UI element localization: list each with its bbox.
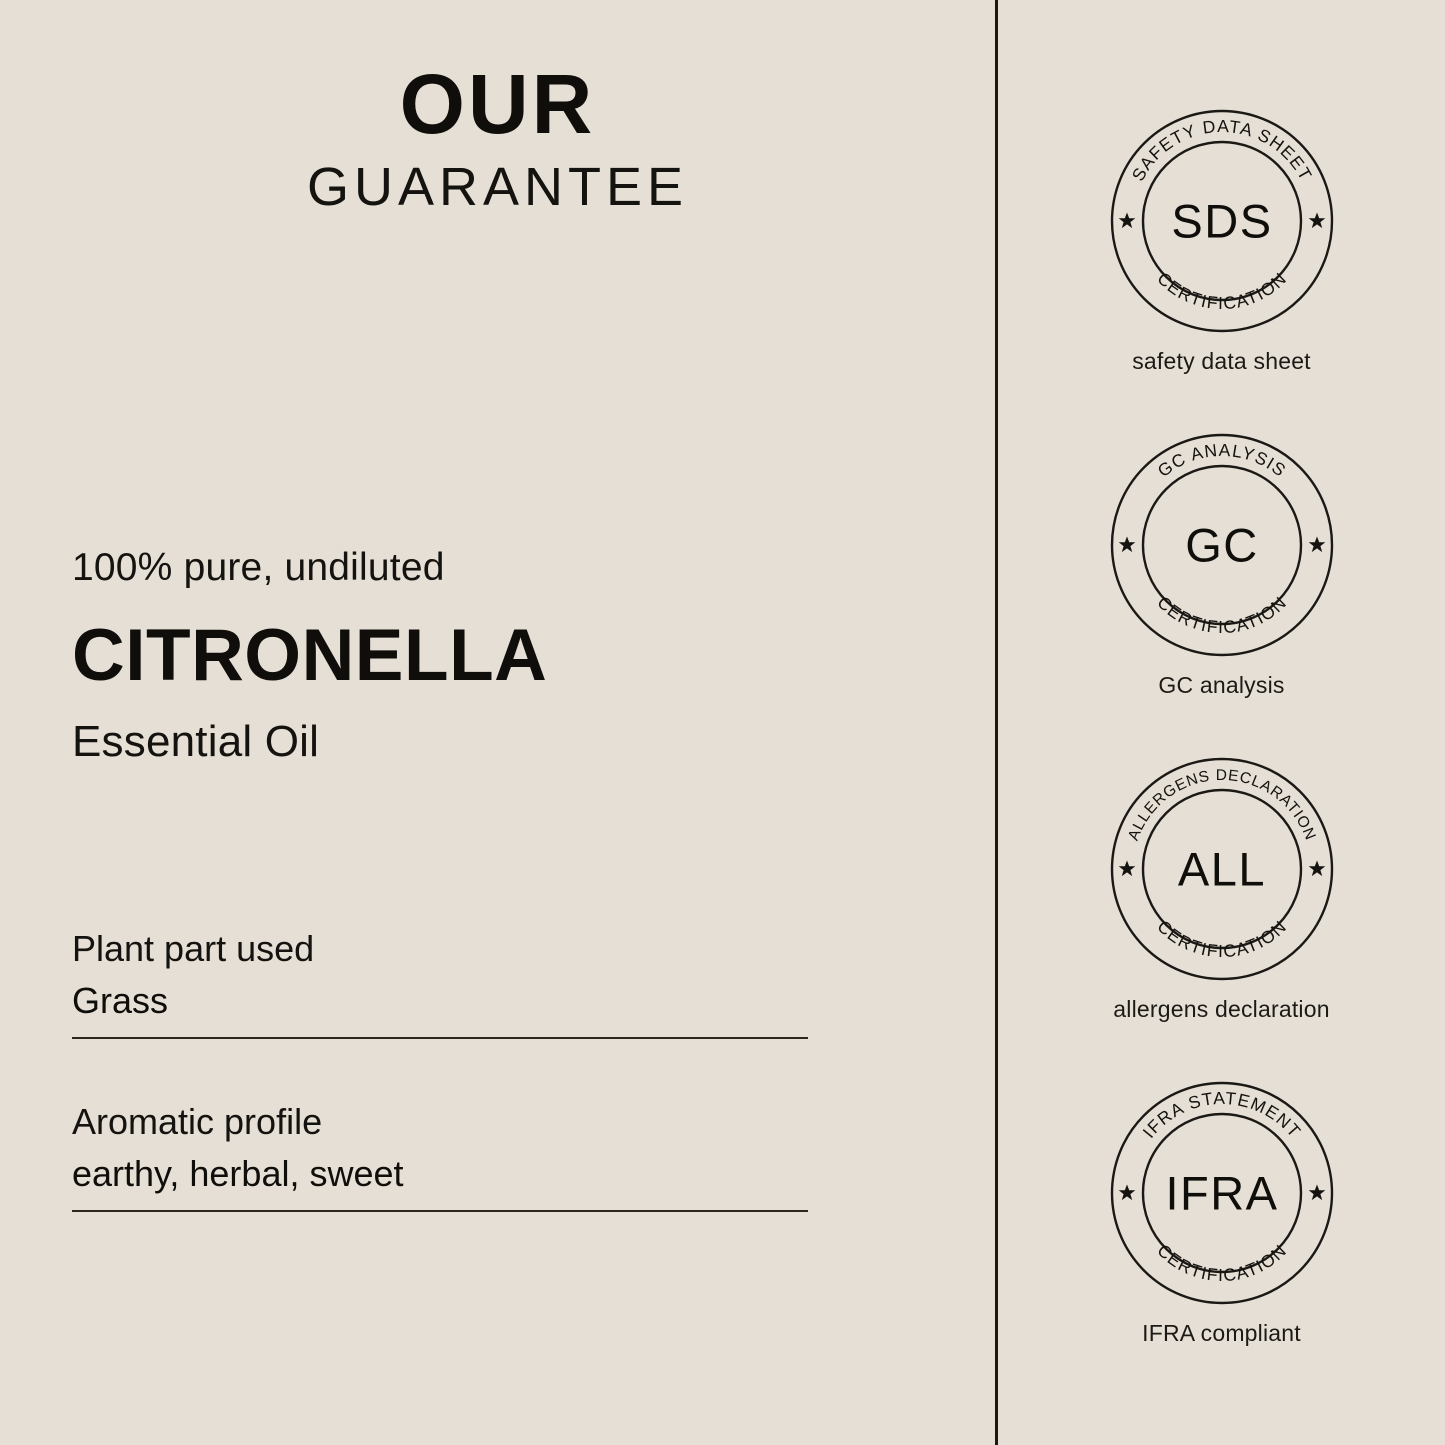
svg-text:CERTIFICATION: CERTIFICATION	[1153, 916, 1290, 961]
seal-arc-bottom: CERTIFICATION	[1153, 916, 1290, 961]
svg-text:CERTIFICATION: CERTIFICATION	[1153, 1240, 1290, 1285]
page-title-line-1: OUR	[0, 62, 995, 146]
page-title: OUR GUARANTEE	[0, 62, 995, 214]
star-icon	[1308, 1185, 1325, 1201]
seal-badge-icon: IFRA STATEMENT CERTIFICATION IFRA	[1109, 1080, 1335, 1306]
page-title-line-2: GUARANTEE	[0, 160, 995, 214]
star-icon	[1118, 861, 1135, 877]
spec-row: Plant part used Grass	[72, 928, 808, 1039]
certification-badge: SAFETY DATA SHEET CERTIFICATION SDS safe…	[998, 108, 1445, 376]
star-icon	[1308, 213, 1325, 229]
certification-badges-column: SAFETY DATA SHEET CERTIFICATION SDS safe…	[998, 0, 1445, 1445]
seal-arc-top: ALLERGENS DECLARATION	[1125, 767, 1319, 843]
seal-badge-icon: ALLERGENS DECLARATION CERTIFICATION ALL	[1109, 756, 1335, 982]
seal-arc-bottom: CERTIFICATION	[1153, 268, 1290, 313]
spec-value: earthy, herbal, sweet	[72, 1153, 808, 1195]
certification-badge: IFRA STATEMENT CERTIFICATION IFRA IFRA c…	[998, 1080, 1445, 1348]
seal-acronym: GC	[1185, 519, 1259, 572]
product-block: 100% pure, undiluted CITRONELLA Essentia…	[72, 548, 892, 764]
seal-acronym: SDS	[1171, 195, 1272, 248]
left-content-column: OUR GUARANTEE 100% pure, undiluted CITRO…	[0, 0, 995, 1445]
spec-label: Aromatic profile	[72, 1101, 808, 1143]
certification-badge: GC ANALYSIS CERTIFICATION GC GC analysis	[998, 432, 1445, 700]
spec-row: Aromatic profile earthy, herbal, sweet	[72, 1101, 808, 1212]
spec-label: Plant part used	[72, 928, 808, 970]
badge-caption: IFRA compliant	[998, 1320, 1445, 1348]
star-icon	[1308, 861, 1325, 877]
svg-text:SAFETY DATA SHEET: SAFETY DATA SHEET	[1127, 116, 1316, 184]
product-purity-text: 100% pure, undiluted	[72, 548, 892, 587]
svg-text:CERTIFICATION: CERTIFICATION	[1153, 268, 1290, 313]
seal-badge-icon: SAFETY DATA SHEET CERTIFICATION SDS	[1109, 108, 1335, 334]
seal-arc-top: SAFETY DATA SHEET	[1127, 116, 1316, 184]
guarantee-page: OUR GUARANTEE 100% pure, undiluted CITRO…	[0, 0, 1445, 1445]
seal-arc-bottom: CERTIFICATION	[1153, 592, 1290, 637]
badge-caption: safety data sheet	[998, 348, 1445, 376]
svg-text:ALLERGENS DECLARATION: ALLERGENS DECLARATION	[1125, 767, 1319, 843]
svg-text:CERTIFICATION: CERTIFICATION	[1153, 592, 1290, 637]
spec-value: Grass	[72, 980, 808, 1022]
seal-badge-icon: GC ANALYSIS CERTIFICATION GC	[1109, 432, 1335, 658]
product-name: CITRONELLA	[72, 619, 892, 692]
spec-list: Plant part used Grass Aromatic profile e…	[72, 928, 808, 1212]
product-type: Essential Oil	[72, 720, 892, 764]
badge-caption: GC analysis	[998, 672, 1445, 700]
seal-acronym: IFRA	[1165, 1167, 1278, 1220]
badge-caption: allergens declaration	[998, 996, 1445, 1024]
star-icon	[1118, 213, 1135, 229]
certification-badge: ALLERGENS DECLARATION CERTIFICATION ALL …	[998, 756, 1445, 1024]
star-icon	[1118, 537, 1135, 553]
star-icon	[1118, 1185, 1135, 1201]
seal-arc-bottom: CERTIFICATION	[1153, 1240, 1290, 1285]
star-icon	[1308, 537, 1325, 553]
seal-acronym: ALL	[1177, 843, 1265, 896]
